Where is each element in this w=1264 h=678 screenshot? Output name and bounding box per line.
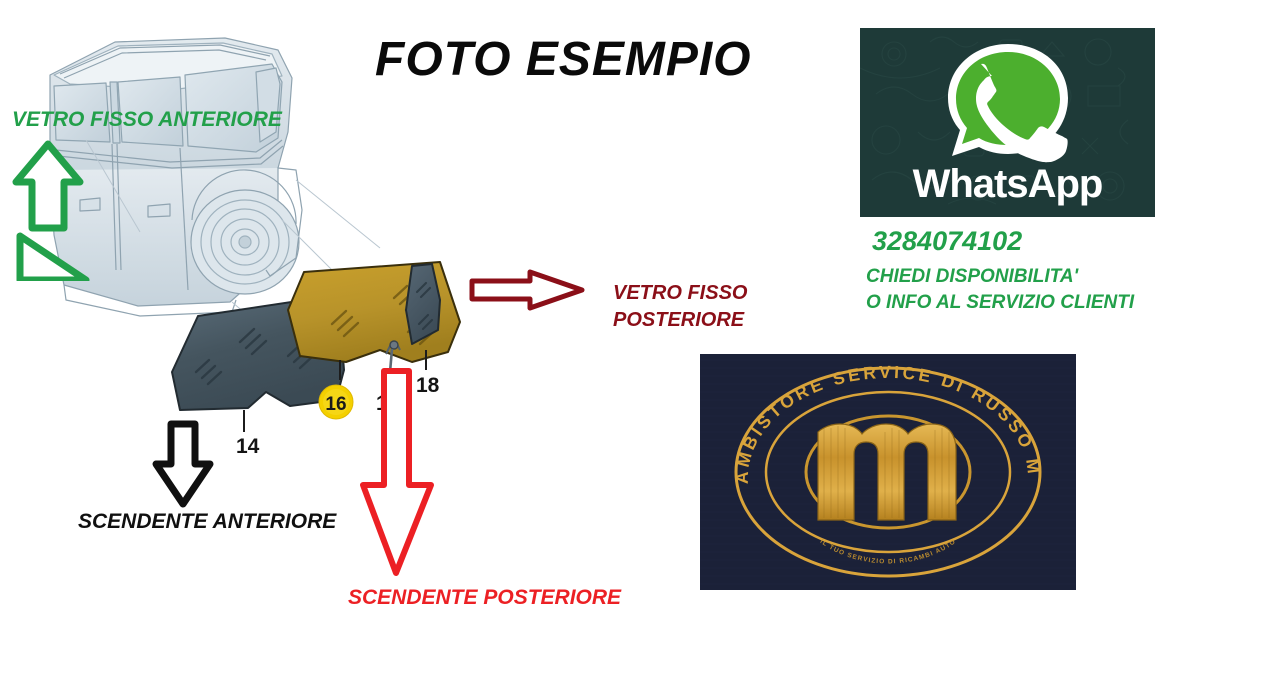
page-title: FOTO ESEMPIO <box>375 32 752 87</box>
dark-red-arrow-right <box>468 268 586 317</box>
whatsapp-banner[interactable]: WhatsApp <box>860 28 1155 217</box>
contact-instructions: CHIEDI DISPONIBILITA' O INFO AL SERVIZIO… <box>866 264 1134 316</box>
label-vetro-fisso-posteriore-line1: VETRO FISSO <box>613 280 747 307</box>
red-arrow-down <box>357 367 437 584</box>
green-arrow-up <box>8 136 104 286</box>
contact-line-1: CHIEDI DISPONIBILITA' <box>866 264 1134 290</box>
label-scendente-posteriore: SCENDENTE POSTERIORE <box>348 586 621 610</box>
contact-line-2: O INFO AL SERVIZIO CLIENTI <box>866 290 1134 316</box>
brand-logo-banner: MRICAMBISTORE SERVICE DI RUSSO MARCO IL … <box>700 354 1076 590</box>
label-vetro-fisso-posteriore: VETRO FISSO POSTERIORE <box>613 280 747 334</box>
screenshot-root: 14 17 <box>0 0 1264 678</box>
whatsapp-wordmark: WhatsApp <box>860 162 1155 207</box>
black-arrow-down <box>148 418 218 515</box>
label-vetro-fisso-anteriore: VETRO FISSO ANTERIORE <box>12 108 282 132</box>
logo-ring-text: MRICAMBISTORE SERVICE DI RUSSO MARCO <box>700 354 1044 484</box>
part-label-14: 14 <box>236 435 260 455</box>
label-scendente-anteriore: SCENDENTE ANTERIORE <box>78 510 336 534</box>
whatsapp-phone-bubble-icon <box>942 38 1074 171</box>
label-vetro-fisso-posteriore-line2: POSTERIORE <box>613 307 747 334</box>
phone-number[interactable]: 3284074102 <box>872 226 1022 257</box>
part-label-16: 16 <box>325 394 346 415</box>
